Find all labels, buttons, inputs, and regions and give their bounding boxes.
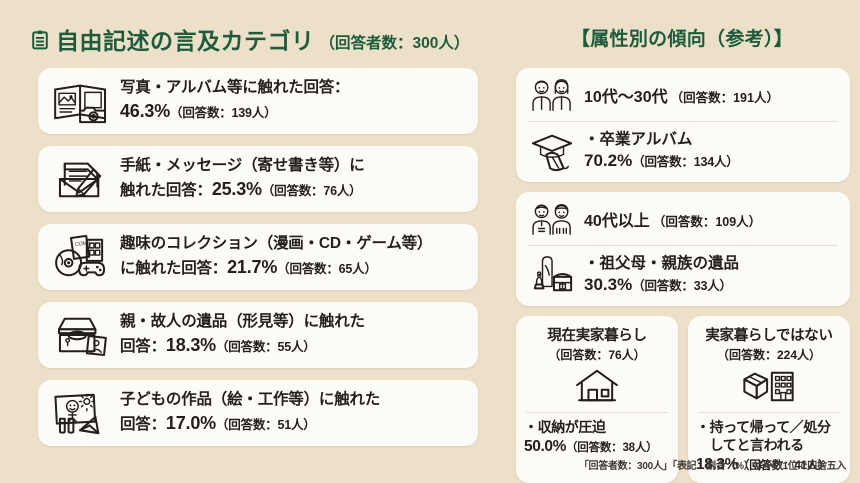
- category-card-text: 趣味のコレクション（漫画・CD・ゲーム等） に触れた回答：21.7%（回答数：6…: [120, 234, 464, 280]
- category-percent: 25.3%: [212, 179, 262, 199]
- living-card-body: ・収納が圧迫 50.0%（回答数：38人）: [524, 419, 670, 457]
- category-line-1: 子どもの作品（絵・工作等）に触れた: [120, 390, 464, 411]
- attribute-item-count: （回答数：134人）: [632, 155, 738, 169]
- letter-envelope-pen-icon: [50, 153, 114, 205]
- category-percent: 21.7%: [227, 257, 277, 277]
- attribute-item-value: 30.3%（回答数：33人）: [584, 274, 739, 297]
- divider: [526, 412, 668, 413]
- category-line-2-prefix: 触れた回答：: [120, 182, 212, 199]
- living-card-body-line1: ・持って帰って／処分: [696, 419, 842, 437]
- attribute-item-percent: 30.3%: [584, 275, 632, 294]
- attribute-item-text: ・卒業アルバム 70.2%（回答数：134人）: [584, 130, 739, 173]
- category-card[interactable]: 子どもの作品（絵・工作等）に触れた 回答：17.0%（回答数：51人）: [38, 380, 478, 446]
- living-card-title: 実家暮らしではない: [696, 324, 842, 345]
- attribute-group-card[interactable]: 40代以上（回答数：109人）: [516, 192, 850, 306]
- box-building-icon: [696, 365, 842, 407]
- attribute-item-label: ・祖父母・親族の遺品: [584, 254, 739, 274]
- photo-album-camera-icon: [50, 75, 114, 127]
- attribute-group-title: 40代以上: [584, 213, 650, 230]
- attribute-item-count: （回答数：33人）: [632, 279, 732, 293]
- category-line-2-prefix: に触れた回答：: [120, 260, 227, 277]
- divider: [698, 412, 840, 413]
- left-heading-subtitle: （回答者数：300人）: [320, 31, 470, 53]
- attribute-group-item: ・卒業アルバム 70.2%（回答数：134人）: [516, 122, 850, 182]
- category-card[interactable]: COMIC 趣味のコレクション（漫画・CD・ゲーム等: [38, 224, 478, 290]
- living-card-count: （回答数：76人）: [524, 346, 670, 363]
- category-card-text: 手紙・メッセージ（寄せ書き等）に 触れた回答：25.3%（回答数：76人）: [120, 156, 464, 202]
- attribute-item-value: 70.2%（回答数：134人）: [584, 150, 739, 173]
- attribute-group-title: 10代〜30代: [584, 89, 668, 106]
- attribute-group-header: 10代〜30代（回答数：191人）: [516, 68, 850, 121]
- attribute-item-label: ・卒業アルバム: [584, 130, 739, 150]
- young-couple-icon: [528, 75, 578, 115]
- left-panel-heading: 自由記述の言及カテゴリ （回答者数：300人）: [32, 22, 469, 56]
- category-line-2: 回答：18.3%（回答数：55人）: [120, 333, 464, 358]
- infographic-page: 自由記述の言及カテゴリ （回答者数：300人） 【属性別の傾向（参考）】: [0, 0, 860, 480]
- living-card-percent-count: （回答数：38人）: [566, 442, 658, 454]
- category-card-text: 子どもの作品（絵・工作等）に触れた 回答：17.0%（回答数：51人）: [120, 390, 464, 436]
- graduation-cap-diploma-icon: [528, 129, 578, 173]
- left-heading-title: 自由記述の言及カテゴリ: [56, 22, 315, 56]
- category-line-2-prefix: 回答：: [120, 338, 166, 355]
- living-card-percent: 50.0%: [524, 438, 566, 455]
- clipboard-icon: [32, 30, 48, 50]
- category-line-1: 親・故人の遺品（形見等）に触れた: [120, 312, 464, 333]
- footnote: 「回答者数：300人」「表記：割合（%）は小数1位で四捨五入: [579, 457, 846, 472]
- right-heading-title: 【属性別の傾向（参考）】: [571, 29, 793, 50]
- category-line-1: 写真・アルバム等に触れた回答：: [120, 78, 464, 99]
- category-line-1: 趣味のコレクション（漫画・CD・ゲーム等）: [120, 234, 464, 255]
- altar-vase-chest-icon: [528, 253, 578, 297]
- category-card-text: 親・故人の遺品（形見等）に触れた 回答：18.3%（回答数：55人）: [120, 312, 464, 358]
- category-count: （回答数：65人）: [277, 262, 377, 276]
- category-line-2: に触れた回答：21.7%（回答数：65人）: [120, 255, 464, 280]
- category-percent: 18.3%: [166, 335, 216, 355]
- attribute-item-text: ・祖父母・親族の遺品 30.3%（回答数：33人）: [584, 254, 739, 297]
- attribute-group-count: （回答数：191人）: [671, 91, 779, 105]
- comic-cd-gamepad-icon: COMIC: [50, 231, 114, 283]
- category-count: （回答数：139人）: [170, 106, 276, 120]
- living-card-count: （回答数：224人）: [696, 346, 842, 363]
- category-count: （回答数：55人）: [216, 340, 316, 354]
- category-card[interactable]: 親・故人の遺品（形見等）に触れた 回答：18.3%（回答数：55人）: [38, 302, 478, 368]
- category-line-1: 手紙・メッセージ（寄せ書き等）に: [120, 156, 464, 177]
- living-card-title: 現在実家暮らし: [524, 324, 670, 345]
- category-line-2: 46.3%（回答数：139人）: [120, 99, 464, 124]
- attribute-item-percent: 70.2%: [584, 151, 632, 170]
- category-card[interactable]: 手紙・メッセージ（寄せ書き等）に 触れた回答：25.3%（回答数：76人）: [38, 146, 478, 212]
- category-line-2: 回答：17.0%（回答数：51人）: [120, 411, 464, 436]
- attribute-group-header: 40代以上（回答数：109人）: [516, 192, 850, 245]
- attribute-group-count: （回答数：109人）: [653, 215, 761, 229]
- living-card-body-line1: ・収納が圧迫: [524, 419, 670, 437]
- category-card-list: 写真・アルバム等に触れた回答： 46.3%（回答数：139人） 手紙・メッセージ…: [38, 68, 478, 446]
- category-count: （回答数：76人）: [262, 184, 362, 198]
- jewelry-box-photo-frame-icon: [50, 309, 114, 361]
- category-percent: 46.3%: [120, 101, 170, 121]
- elderly-couple-icon: [528, 199, 578, 239]
- category-card-text: 写真・アルバム等に触れた回答： 46.3%（回答数：139人）: [120, 78, 464, 124]
- attribute-group-title-wrap: 40代以上（回答数：109人）: [584, 207, 761, 231]
- attribute-group-card[interactable]: 10代〜30代（回答数：191人） ・卒業アルバム 70.2%（回答数：: [516, 68, 850, 182]
- living-card-body-line2: してと言われる: [696, 437, 842, 455]
- attribute-panel: 10代〜30代（回答数：191人） ・卒業アルバム 70.2%（回答数：: [516, 68, 850, 483]
- category-line-2-prefix: 回答：: [120, 416, 166, 433]
- attribute-group-item: ・祖父母・親族の遺品 30.3%（回答数：33人）: [516, 246, 850, 306]
- category-count: （回答数：51人）: [216, 418, 316, 432]
- living-card-value: 50.0%（回答数：38人）: [524, 437, 670, 457]
- category-line-2: 触れた回答：25.3%（回答数：76人）: [120, 177, 464, 202]
- child-drawing-crayon-origami-icon: [50, 387, 114, 439]
- category-percent: 17.0%: [166, 413, 216, 433]
- right-panel-heading: 【属性別の傾向（参考）】: [512, 24, 852, 51]
- category-card[interactable]: 写真・アルバム等に触れた回答： 46.3%（回答数：139人）: [38, 68, 478, 134]
- attribute-group-title-wrap: 10代〜30代（回答数：191人）: [584, 83, 779, 107]
- house-icon: [524, 365, 670, 407]
